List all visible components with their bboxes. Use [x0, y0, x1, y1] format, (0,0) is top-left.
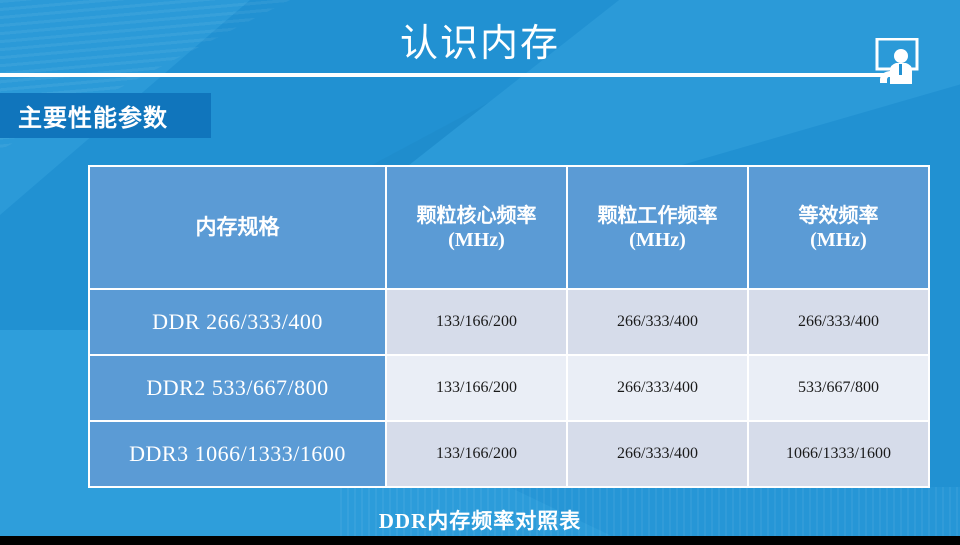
ddr-frequency-table: 内存规格 颗粒核心频率 (MHz) 颗粒工作频率 (MHz) 等效频率 (MHz…: [88, 165, 930, 488]
cell-core-frequency: 133/166/200: [386, 421, 567, 487]
cell-core-frequency: 133/166/200: [386, 355, 567, 421]
column-header-effective-frequency: 等效频率 (MHz): [748, 166, 929, 289]
bottom-black-strip: [0, 536, 960, 545]
table-row: DDR2 533/667/800 133/166/200 266/333/400…: [89, 355, 929, 421]
table-caption: DDR内存频率对照表: [0, 505, 960, 535]
presenter-whiteboard-icon: [868, 38, 926, 90]
column-header-work-frequency-line2: (MHz): [574, 228, 741, 252]
section-badge: 主要性能参数: [0, 93, 211, 138]
cell-work-frequency: 266/333/400: [567, 289, 748, 355]
header-divider: [0, 73, 908, 77]
cell-work-frequency: 266/333/400: [567, 421, 748, 487]
table-row: DDR 266/333/400 133/166/200 266/333/400 …: [89, 289, 929, 355]
cell-effective-frequency: 1066/1333/1600: [748, 421, 929, 487]
table-body: DDR 266/333/400 133/166/200 266/333/400 …: [89, 289, 929, 487]
table-header-row: 内存规格 颗粒核心频率 (MHz) 颗粒工作频率 (MHz) 等效频率 (MHz…: [89, 166, 929, 289]
column-header-memory-spec: 内存规格: [89, 166, 386, 289]
cell-core-frequency: 133/166/200: [386, 289, 567, 355]
table-row: DDR3 1066/1333/1600 133/166/200 266/333/…: [89, 421, 929, 487]
cell-effective-frequency: 533/667/800: [748, 355, 929, 421]
slide-canvas: 认识内存 主要性能参数 内存规格 颗粒核心频率 (MHz): [0, 0, 960, 545]
page-title: 认识内存: [0, 12, 960, 67]
column-header-core-frequency-line2: (MHz): [393, 228, 560, 252]
column-header-work-frequency: 颗粒工作频率 (MHz): [567, 166, 748, 289]
column-header-memory-spec-line1: 内存规格: [96, 215, 379, 240]
cell-work-frequency: 266/333/400: [567, 355, 748, 421]
column-header-effective-frequency-line1: 等效频率: [755, 204, 922, 228]
section-badge-label: 主要性能参数: [0, 98, 168, 133]
cell-memory-spec: DDR2 533/667/800: [89, 355, 386, 421]
column-header-core-frequency-line1: 颗粒核心频率: [393, 204, 560, 228]
column-header-work-frequency-line1: 颗粒工作频率: [574, 204, 741, 228]
cell-memory-spec: DDR 266/333/400: [89, 289, 386, 355]
column-header-effective-frequency-line2: (MHz): [755, 228, 922, 252]
cell-memory-spec: DDR3 1066/1333/1600: [89, 421, 386, 487]
table-header: 内存规格 颗粒核心频率 (MHz) 颗粒工作频率 (MHz) 等效频率 (MHz…: [89, 166, 929, 289]
cell-effective-frequency: 266/333/400: [748, 289, 929, 355]
column-header-core-frequency: 颗粒核心频率 (MHz): [386, 166, 567, 289]
